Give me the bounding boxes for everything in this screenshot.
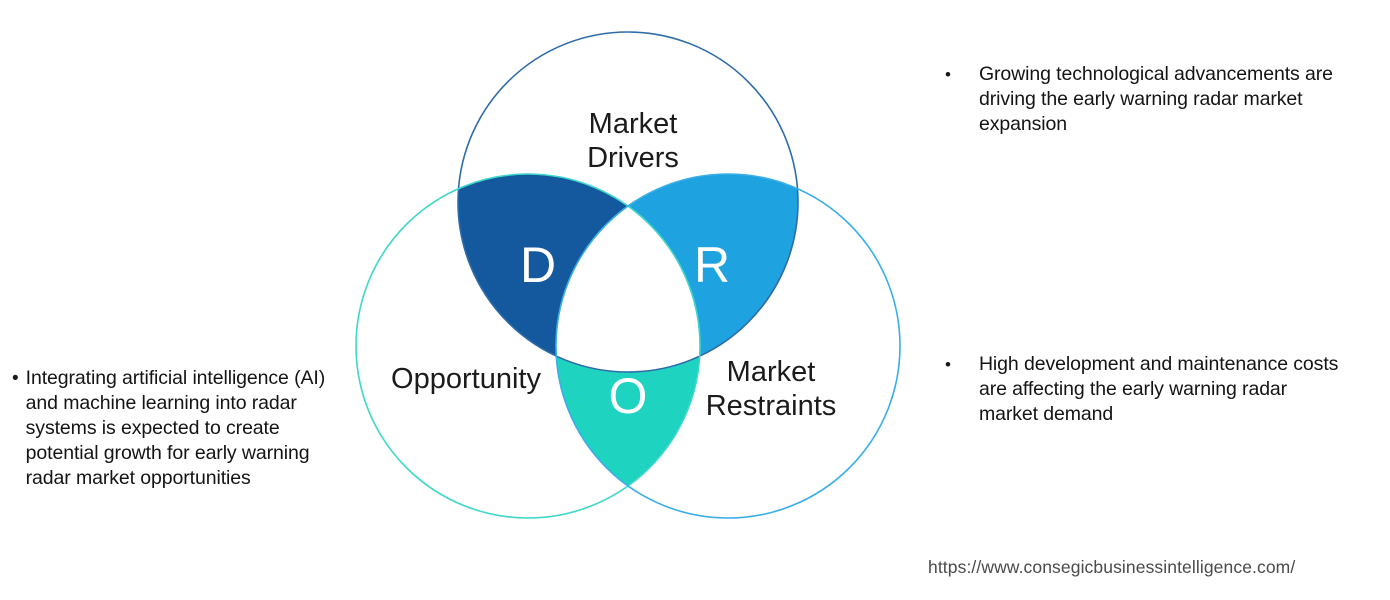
bullet-point-icon: • [12,366,19,391]
bullet-point-icon: • [945,352,951,377]
venn-label-drivers-line2: Drivers [587,142,679,174]
callout-restraints: • High development and maintenance costs… [945,352,1365,427]
source-url[interactable]: https://www.consegicbusinessintelligence… [928,556,1295,578]
callout-drivers: • Growing technological advancements are… [945,62,1365,137]
venn-label-restraints-line1: Market [727,356,816,388]
callout-drivers-text: Growing technological advancements are d… [979,62,1344,137]
venn-diagram-svg: Market Drivers Opportunity Market Restra… [340,10,920,540]
infographic-canvas: Market Drivers Opportunity Market Restra… [0,0,1390,600]
venn-diagram: Market Drivers Opportunity Market Restra… [340,10,920,540]
callout-restraints-text: High development and maintenance costs a… [979,352,1339,427]
lens-letter-r: R [694,237,730,293]
callout-opportunity-text: Integrating artificial intelligence (AI)… [26,366,326,491]
bullet-point-icon: • [945,62,951,87]
venn-label-opportunity: Opportunity [391,363,541,395]
venn-label-restraints-line2: Restraints [706,390,837,422]
lens-letter-d: D [520,237,556,293]
lens-letter-o: O [609,368,648,424]
callout-opportunity: • Integrating artificial intelligence (A… [12,366,342,491]
venn-label-drivers-line1: Market [589,108,678,140]
